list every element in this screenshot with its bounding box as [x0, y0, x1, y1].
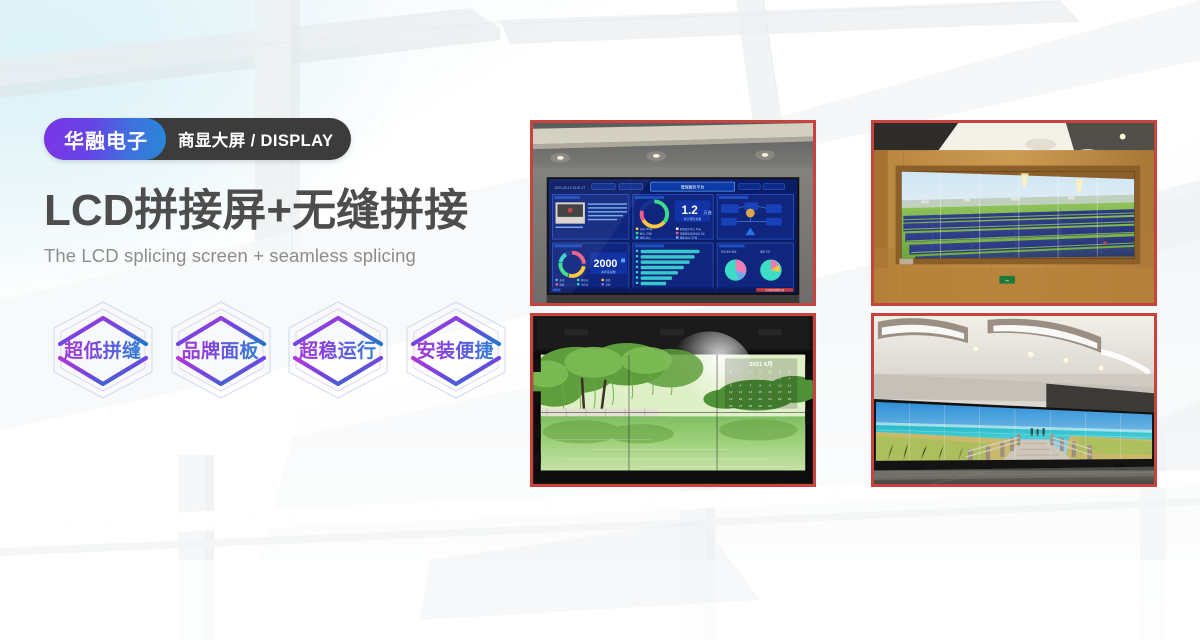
svg-text:累计服务总数: 累计服务总数	[684, 216, 702, 221]
svg-text:维保: 维保	[605, 278, 610, 282]
svg-text:本年度总数: 本年度总数	[601, 269, 616, 274]
svg-text:28: 28	[749, 404, 753, 408]
svg-text:15: 15	[758, 390, 762, 394]
svg-text:30: 30	[768, 404, 772, 408]
svg-text:25: 25	[788, 397, 792, 401]
svg-text:23: 23	[768, 397, 772, 401]
svg-text:19: 19	[729, 397, 733, 401]
page-subtitle: The LCD splicing screen + seamless splic…	[44, 245, 514, 267]
svg-text:11: 11	[788, 384, 792, 388]
svg-text:7: 7	[749, 384, 751, 388]
svg-text:10: 10	[778, 384, 782, 388]
svg-text:维保 站点: 维保 站点	[640, 236, 651, 240]
svg-text:4: 4	[789, 377, 791, 381]
svg-text:16: 16	[768, 390, 772, 394]
svg-text:二: 二	[749, 370, 752, 374]
feature-hexagon-row: 超低拼缝 品牌面板 超稳运行	[44, 295, 514, 405]
svg-text:2000: 2000	[593, 258, 617, 270]
svg-text:5: 5	[730, 384, 732, 388]
feature-hexagon-3: 超稳运行	[279, 295, 397, 405]
svg-text:2021 6月: 2021 6月	[749, 360, 773, 368]
svg-text:六: 六	[788, 369, 791, 374]
svg-text:光伏站: 光伏站	[581, 283, 589, 287]
svg-text:22: 22	[758, 397, 762, 401]
svg-text:1: 1	[759, 377, 761, 381]
svg-text:2: 2	[769, 377, 771, 381]
page-title: LCD拼接屏+无缝拼接	[44, 188, 514, 234]
svg-text:万座: 万座	[703, 209, 712, 216]
svg-text:13: 13	[739, 390, 743, 394]
feature-label: 超低拼缝	[64, 336, 141, 363]
svg-text:21: 21	[749, 397, 753, 401]
svg-text:9: 9	[769, 384, 771, 388]
svg-text:五: 五	[778, 370, 781, 374]
svg-text:20: 20	[739, 397, 743, 401]
photo-beach-videowall	[871, 313, 1157, 487]
feature-hexagon-4: 安装便捷	[397, 295, 515, 405]
svg-text:27: 27	[739, 404, 743, 408]
feature-hexagon-1: 超低拼缝	[44, 295, 162, 405]
brand-badge: 华融电子 商显大屏 / DISPLAY	[44, 118, 351, 160]
photo-lake-videowall: 2021 6月 日一二 三四五六 1234 567 891011 121314 …	[530, 313, 816, 487]
svg-text:12: 12	[729, 390, 733, 394]
brand-category-label: 商显大屏 / DISPLAY	[152, 118, 351, 160]
svg-text:18: 18	[788, 390, 792, 394]
svg-text:充电 158座: 充电 158座	[640, 227, 653, 231]
svg-text:换电 118座: 换电 118座	[640, 231, 653, 235]
brand-name-label: 华融电子	[44, 118, 166, 160]
svg-text:一: 一	[739, 370, 742, 374]
svg-text:日: 日	[729, 370, 732, 374]
feature-hexagon-2: 品牌面板	[162, 295, 280, 405]
svg-text:三: 三	[759, 370, 762, 374]
promo-banner: 华融电子 商显大屏 / DISPLAY LCD拼接屏+无缝拼接 The LCD …	[0, 0, 1200, 640]
svg-text:1.2: 1.2	[681, 204, 698, 217]
svg-text:管理服务平台: 管理服务平台	[681, 184, 705, 189]
svg-text:26: 26	[729, 404, 733, 408]
svg-text:其他: 其他	[605, 283, 610, 287]
svg-text:储能电站 118座: 储能电站 118座	[680, 236, 698, 240]
svg-text:四: 四	[768, 370, 771, 374]
svg-text:3: 3	[779, 377, 781, 381]
feature-label: 安装便捷	[417, 336, 494, 363]
svg-text:增量配电及换电站 5座: 增量配电及换电站 5座	[680, 231, 705, 235]
photo-solar-videowall: ↦	[871, 120, 1157, 306]
svg-text:6: 6	[740, 384, 742, 388]
svg-text:24: 24	[778, 397, 782, 401]
svg-text:29: 29	[758, 404, 762, 408]
svg-text:17: 17	[778, 390, 782, 394]
svg-text:8: 8	[759, 384, 761, 388]
svg-text:智能服务中心 31座: 智能服务中心 31座	[680, 227, 702, 231]
photo-dashboard-videowall: 2021-09-13 10:51:27 管理服务平台	[530, 120, 816, 306]
hero-text-column: 华融电子 商显大屏 / DISPLAY LCD拼接屏+无缝拼接 The LCD …	[44, 118, 514, 405]
feature-label: 品牌面板	[182, 336, 259, 363]
feature-label: 超稳运行	[299, 336, 376, 363]
svg-text:14: 14	[749, 390, 753, 394]
